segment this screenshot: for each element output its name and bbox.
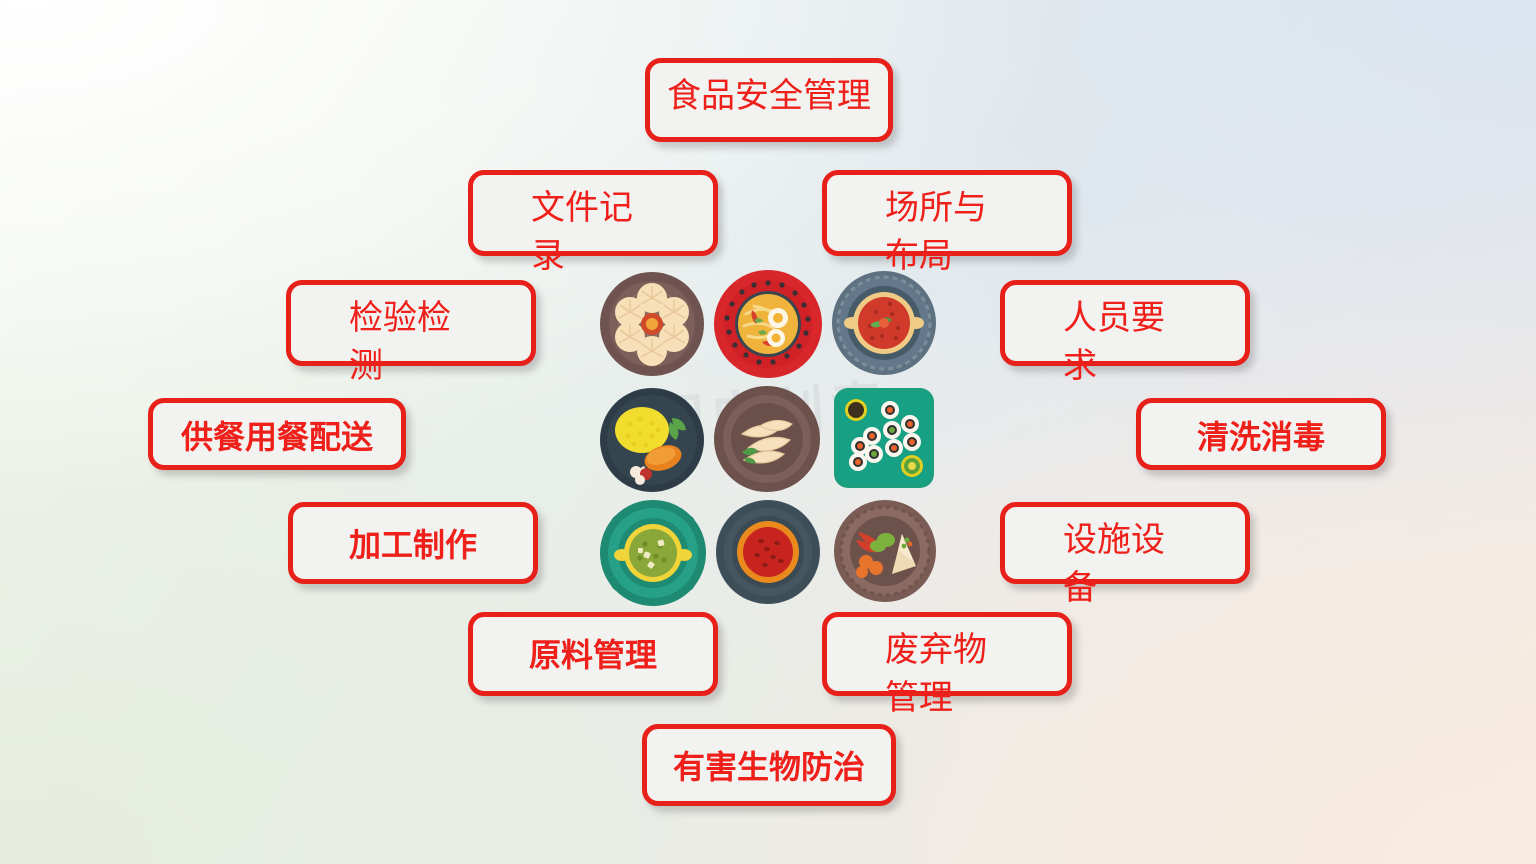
node-label-pestcontrol: 有害生物防治: [647, 743, 891, 791]
dish-green-soup-teal-plate: [600, 500, 706, 606]
dish-rice-chicken-leg: [600, 388, 704, 492]
node-label-personnel: 人员要求: [1005, 295, 1245, 391]
node-waste[interactable]: 废弃物管理: [822, 612, 1072, 696]
node-sanitizing[interactable]: 清洗消毒: [1136, 398, 1386, 470]
node-personnel[interactable]: 人员要求: [1000, 280, 1250, 366]
dish-burrito-veggies-plate: [834, 500, 936, 602]
node-processing[interactable]: 加工制作: [288, 502, 538, 584]
node-inspection[interactable]: 检验检测: [286, 280, 536, 366]
node-label-premises: 场所与布局: [827, 185, 1067, 281]
node-label-delivery: 供餐用餐配送: [153, 413, 401, 461]
node-label-documents: 文件记录: [473, 185, 713, 281]
node-label-sanitizing: 清洗消毒: [1141, 413, 1381, 461]
node-label-facilities: 设施设备: [1005, 517, 1245, 613]
dish-red-soup-gray-plate: [716, 500, 820, 604]
node-title[interactable]: 食品安全管理: [645, 58, 893, 142]
dish-noodles-red-plate: [714, 270, 822, 378]
dish-dumplings-brown-plate: [714, 386, 820, 492]
node-pestcontrol[interactable]: 有害生物防治: [642, 724, 896, 806]
node-label-title: 食品安全管理: [650, 73, 888, 121]
dish-dumplings-brown-bowl: [600, 272, 704, 376]
node-label-inspection: 检验检测: [291, 295, 531, 391]
dish-tomato-soup-pot: [832, 270, 936, 376]
slide-canvas: 图虫创意: [0, 0, 1536, 864]
node-materials[interactable]: 原料管理: [468, 612, 718, 696]
node-premises[interactable]: 场所与布局: [822, 170, 1072, 256]
node-label-materials: 原料管理: [473, 631, 713, 679]
node-documents[interactable]: 文件记录: [468, 170, 718, 256]
node-label-waste: 废弃物管理: [827, 627, 1067, 723]
node-delivery[interactable]: 供餐用餐配送: [148, 398, 406, 470]
node-label-processing: 加工制作: [293, 521, 533, 569]
dish-sushi-green-square: [834, 388, 934, 488]
node-facilities[interactable]: 设施设备: [1000, 502, 1250, 584]
